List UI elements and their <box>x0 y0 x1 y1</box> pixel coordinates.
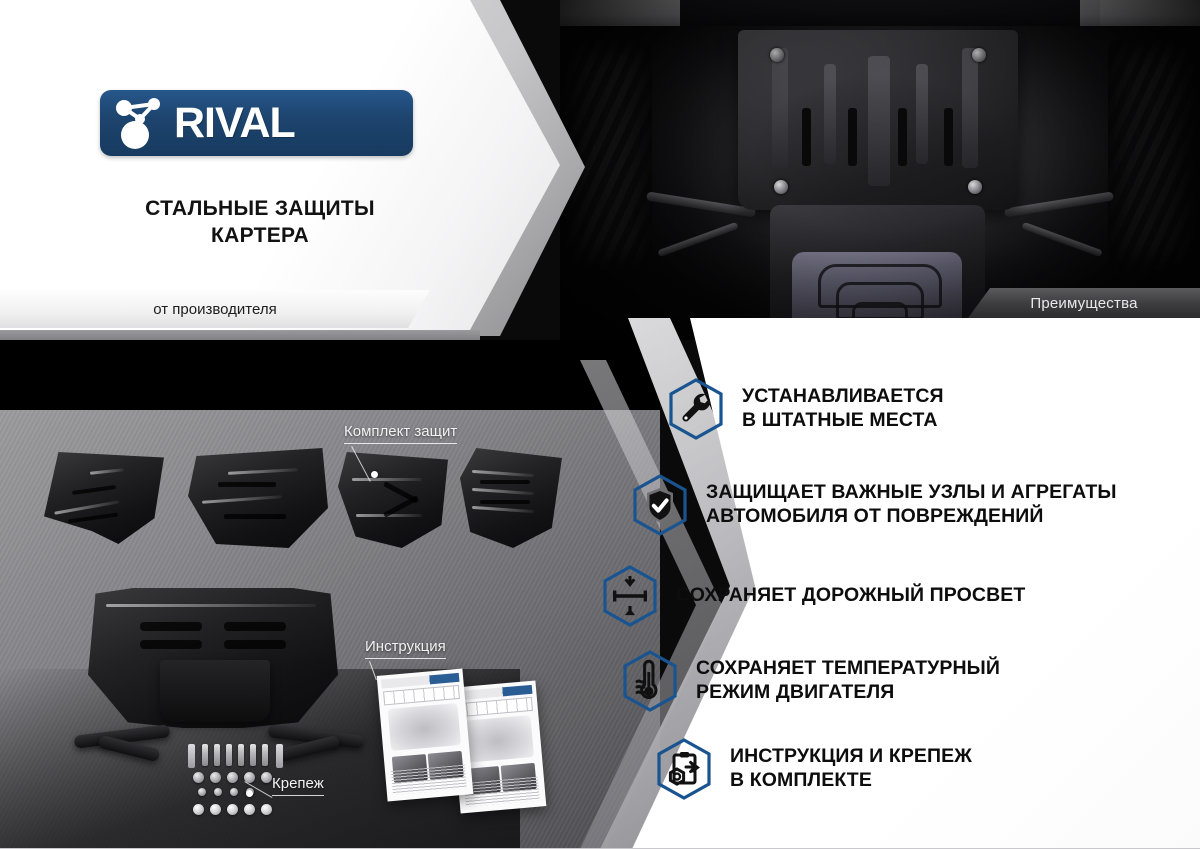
clipboard-hardware-icon <box>656 738 712 800</box>
rival-skid-plate-banner: Преимущества RIVAL СТАЛЬНЫЕ ЗАЩИТЫ КАРТЕ… <box>0 0 1200 849</box>
feature-item-1[interactable]: УСТАНАВЛИВАЕТСЯ В ШТАТНЫЕ МЕСТА <box>668 378 944 440</box>
thermometer-icon <box>622 650 678 712</box>
feature-label-4: СОХРАНЯЕТ ТЕМПЕРАТУРНЫЙ РЕЖИМ ДВИГАТЕЛЯ <box>696 657 1000 705</box>
shield-check-icon <box>632 474 688 536</box>
feature-label-1: УСТАНАВЛИВАЕТСЯ В ШТАТНЫЕ МЕСТА <box>742 385 944 433</box>
ground-clearance-icon <box>602 565 658 627</box>
feature-label-5: ИНСТРУКЦИЯ И КРЕПЕЖ В КОМПЛЕКТЕ <box>730 745 972 793</box>
feature-item-2[interactable]: ЗАЩИЩАЕТ ВАЖНЫЕ УЗЛЫ И АГРЕГАТЫ АВТОМОБИ… <box>632 474 1117 536</box>
feature-label-3: СОХРАНЯЕТ ДОРОЖНЫЙ ПРОСВЕТ <box>676 584 1025 608</box>
feature-item-3[interactable]: СОХРАНЯЕТ ДОРОЖНЫЙ ПРОСВЕТ <box>602 565 1025 627</box>
feature-item-5[interactable]: ИНСТРУКЦИЯ И КРЕПЕЖ В КОМПЛЕКТЕ <box>656 738 972 800</box>
features-list: УСТАНАВЛИВАЕТСЯ В ШТАТНЫЕ МЕСТА ЗАЩИЩАЕТ… <box>0 0 1200 849</box>
feature-item-4[interactable]: СОХРАНЯЕТ ТЕМПЕРАТУРНЫЙ РЕЖИМ ДВИГАТЕЛЯ <box>622 650 1000 712</box>
feature-label-2: ЗАЩИЩАЕТ ВАЖНЫЕ УЗЛЫ И АГРЕГАТЫ АВТОМОБИ… <box>706 481 1117 529</box>
wrench-icon <box>668 378 724 440</box>
